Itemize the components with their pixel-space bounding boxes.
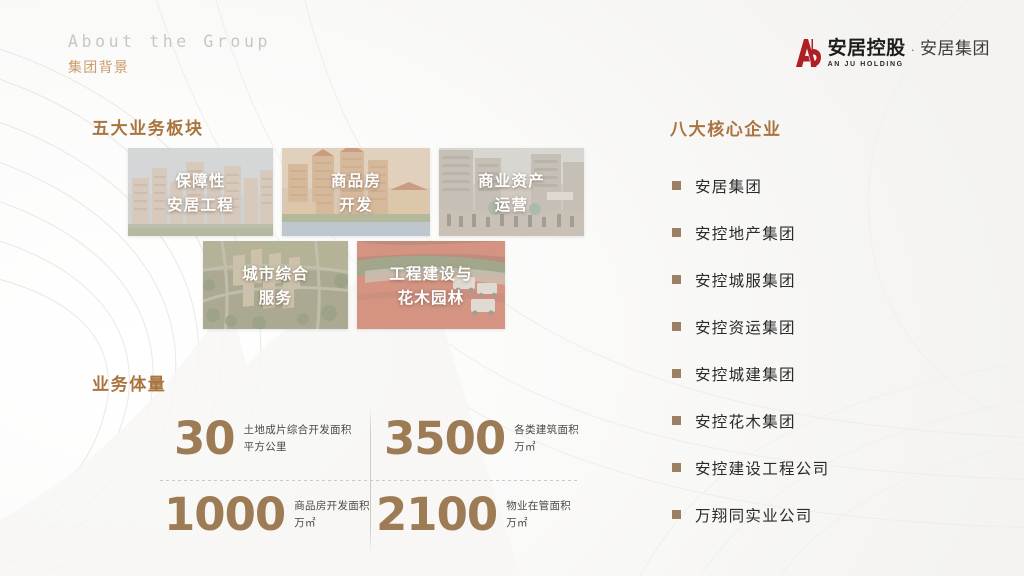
square-bullet-icon: [672, 510, 681, 519]
stats-horizontal-divider: [160, 480, 580, 481]
logo-chinese-row: 安居控股 · 安居集团: [828, 39, 990, 58]
card-label-line1: 保障性: [175, 169, 225, 191]
card-urban-services[interactable]: 城市综合 服务: [203, 241, 348, 329]
card-label-line2: 运营: [495, 193, 528, 215]
list-item[interactable]: 安控地产集团: [672, 209, 829, 256]
card-label: 工程建设与 花木园林: [357, 241, 505, 329]
page-title-chinese: 集团背景: [68, 57, 271, 77]
list-item-label: 安居集团: [695, 175, 762, 197]
card-label-line1: 商品房: [331, 169, 381, 191]
square-bullet-icon: [672, 275, 681, 284]
business-volume-stats: 30 土地成片综合开发面积 平方公里 3500 各类建筑面积 万㎡ 1000 商…: [160, 404, 580, 556]
company-logo: 安居控股 · 安居集团 AN JU HOLDING: [794, 38, 990, 68]
card-label: 城市综合 服务: [203, 241, 348, 329]
stat-building-area: 3500 各类建筑面积 万㎡: [384, 418, 579, 459]
logo-name-chinese-secondary: 安居集团: [920, 40, 990, 57]
card-commercial-assets[interactable]: 商业资产 运营: [439, 148, 584, 236]
list-item[interactable]: 安控建设工程公司: [672, 444, 829, 491]
stat-label-line1: 土地成片综合开发面积: [244, 424, 352, 436]
section-title-business-volume: 业务体量: [92, 370, 166, 395]
stat-number: 3500: [384, 418, 505, 459]
card-label: 商业资产 运营: [439, 148, 584, 236]
stat-label-line2: 万㎡: [514, 441, 536, 453]
stat-commodity-housing-area: 1000 商品房开发面积 万㎡: [164, 494, 370, 535]
stat-number: 30: [174, 418, 235, 459]
business-segments-row-1: 保障性 安居工程: [128, 148, 584, 236]
logo-wordmark: 安居控股 · 安居集团 AN JU HOLDING: [828, 39, 990, 68]
logo-separator: ·: [911, 43, 915, 56]
card-label-line2: 服务: [259, 286, 292, 308]
stat-label-line2: 平方公里: [244, 441, 287, 453]
stat-land-development: 30 土地成片综合开发面积 平方公里: [174, 418, 352, 459]
square-bullet-icon: [672, 181, 681, 190]
square-bullet-icon: [672, 322, 681, 331]
stat-label-line1: 商品房开发面积: [294, 500, 370, 512]
slide-header: About the Group 集团背景: [68, 32, 271, 77]
stat-number: 1000: [164, 494, 285, 535]
card-label-line1: 工程建设与: [389, 262, 473, 284]
card-label-line2: 开发: [339, 193, 372, 215]
list-item[interactable]: 安控城服集团: [672, 256, 829, 303]
list-item[interactable]: 安控花木集团: [672, 397, 829, 444]
page-title-english: About the Group: [68, 32, 271, 51]
card-affordable-housing[interactable]: 保障性 安居工程: [128, 148, 273, 236]
list-item-label: 安控花木集团: [695, 410, 796, 432]
logo-name-english: AN JU HOLDING: [828, 61, 990, 68]
card-label-line2: 安居工程: [167, 193, 234, 215]
section-title-business-segments: 五大业务板块: [92, 114, 204, 139]
list-item-label: 安控地产集团: [695, 222, 796, 244]
stat-label: 物业在管面积 万㎡: [506, 498, 571, 531]
list-item-label: 安控建设工程公司: [695, 457, 829, 479]
logo-name-chinese: 安居控股: [828, 39, 906, 58]
card-label: 保障性 安居工程: [128, 148, 273, 236]
stat-label: 土地成片综合开发面积 平方公里: [244, 422, 352, 455]
list-item[interactable]: 万翔同实业公司: [672, 491, 829, 538]
list-item[interactable]: 安居集团: [672, 162, 829, 209]
square-bullet-icon: [672, 416, 681, 425]
card-label-line1: 城市综合: [242, 262, 309, 284]
square-bullet-icon: [672, 463, 681, 472]
card-label: 商品房 开发: [282, 148, 430, 236]
slide-root: About the Group 集团背景 安居控股 · 安居集团 AN JU H…: [0, 0, 1024, 576]
stat-label-line1: 各类建筑面积: [514, 424, 579, 436]
core-enterprises-list: 安居集团 安控地产集团 安控城服集团 安控资运集团 安控城建集团 安控花木集团 …: [672, 162, 829, 538]
list-item-label: 安控城建集团: [695, 363, 796, 385]
stat-number: 2100: [376, 494, 497, 535]
square-bullet-icon: [672, 369, 681, 378]
list-item[interactable]: 安控城建集团: [672, 350, 829, 397]
list-item-label: 安控资运集团: [695, 316, 796, 338]
card-label-line1: 商业资产: [478, 169, 545, 191]
list-item[interactable]: 安控资运集团: [672, 303, 829, 350]
stat-label-line2: 万㎡: [294, 517, 316, 529]
square-bullet-icon: [672, 228, 681, 237]
business-segments-row-2: 城市综合 服务: [203, 241, 505, 329]
list-item-label: 安控城服集团: [695, 269, 796, 291]
list-item-label: 万翔同实业公司: [695, 504, 813, 526]
stats-grid: 30 土地成片综合开发面积 平方公里 3500 各类建筑面积 万㎡ 1000 商…: [160, 404, 580, 556]
stat-managed-property-area: 2100 物业在管面积 万㎡: [376, 494, 571, 535]
stat-label: 各类建筑面积 万㎡: [514, 422, 579, 455]
section-title-core-enterprises: 八大核心企业: [670, 115, 782, 140]
stat-label-line2: 万㎡: [506, 517, 528, 529]
stat-label: 商品房开发面积 万㎡: [294, 498, 370, 531]
card-label-line2: 花木园林: [398, 286, 465, 308]
stat-label-line1: 物业在管面积: [506, 500, 571, 512]
card-engineering-garden[interactable]: 工程建设与 花木园林: [357, 241, 505, 329]
aj-monogram-icon: [794, 38, 821, 68]
card-commodity-housing[interactable]: 商品房 开发: [282, 148, 430, 236]
